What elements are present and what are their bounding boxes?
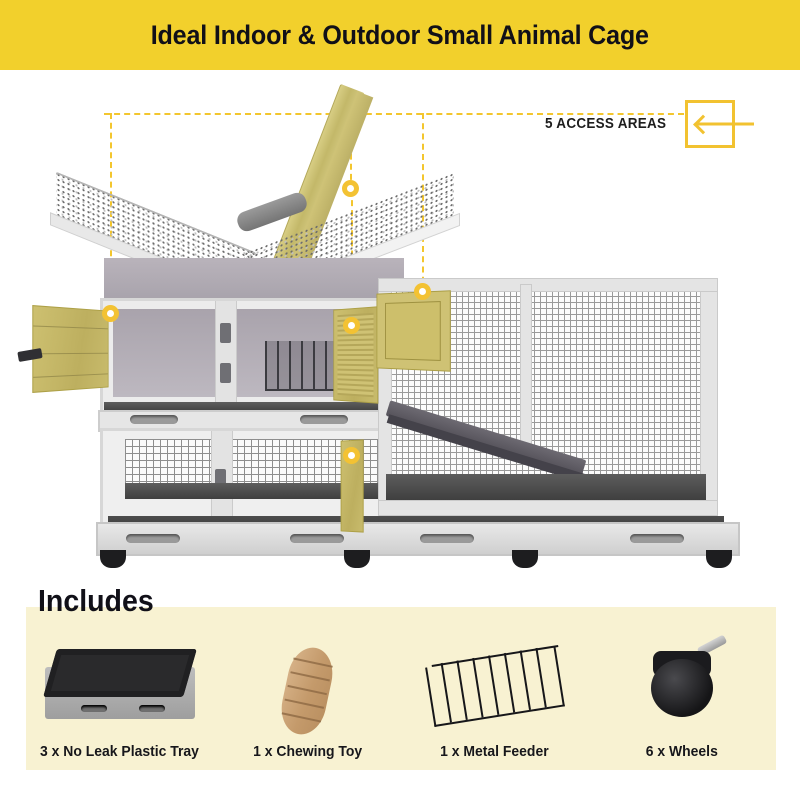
access-door-left [32, 305, 108, 393]
includes-item: 1 x Metal Feeder [401, 612, 589, 770]
access-door-run-side [376, 290, 450, 372]
metal-feeder-icon [401, 633, 589, 741]
includes-item: 1 x Chewing Toy [214, 612, 402, 770]
caster-wheel [706, 550, 732, 568]
caster-wheel [512, 550, 538, 568]
lower-hutch-frame [100, 428, 412, 530]
tray-handle-slot [300, 415, 348, 424]
includes-item-label: 1 x Chewing Toy [253, 743, 362, 760]
page-title: Ideal Indoor & Outdoor Small Animal Cage [151, 20, 649, 51]
includes-item: 6 x Wheels [589, 612, 777, 770]
caster-wheel [344, 550, 370, 568]
base-handle-slot [290, 534, 344, 543]
includes-item: 3 x No Leak Plastic Tray [26, 612, 214, 770]
run-post-mid [520, 284, 532, 446]
access-areas-callout: 5 ACCESS AREAS [545, 100, 735, 148]
arrow-left-icon [685, 100, 735, 148]
access-point-dot-3 [343, 317, 360, 334]
base-handle-slot [126, 534, 180, 543]
includes-item-label: 1 x Metal Feeder [440, 743, 549, 760]
infographic-page: Ideal Indoor & Outdoor Small Animal Cage… [0, 0, 800, 800]
caster-wheel-icon [589, 633, 777, 741]
access-point-dot-1 [102, 305, 119, 322]
access-point-dot-4 [414, 283, 431, 300]
access-point-dot-2 [342, 180, 359, 197]
door-latch-upper [220, 323, 231, 343]
access-areas-label: 5 ACCESS AREAS [545, 116, 666, 132]
includes-item-label: 6 x Wheels [646, 743, 718, 760]
center-post [215, 301, 237, 411]
tray-handle-slot [130, 415, 178, 424]
chew-toy-icon [214, 633, 402, 741]
base-handle-slot [630, 534, 684, 543]
access-point-dot-5 [343, 447, 360, 464]
run-rail-bottom [378, 500, 718, 516]
includes-item-label: 3 x No Leak Plastic Tray [40, 743, 199, 760]
header-banner: Ideal Indoor & Outdoor Small Animal Cage [0, 0, 800, 70]
run-floor-tray [386, 474, 706, 500]
base-handle-slot [420, 534, 474, 543]
includes-item-list: 3 x No Leak Plastic Tray 1 x Chewing Toy [26, 612, 776, 770]
product-illustration [0, 150, 800, 590]
caster-wheel [100, 550, 126, 568]
plastic-tray-icon [26, 633, 214, 741]
door-latch-lower [220, 363, 231, 383]
